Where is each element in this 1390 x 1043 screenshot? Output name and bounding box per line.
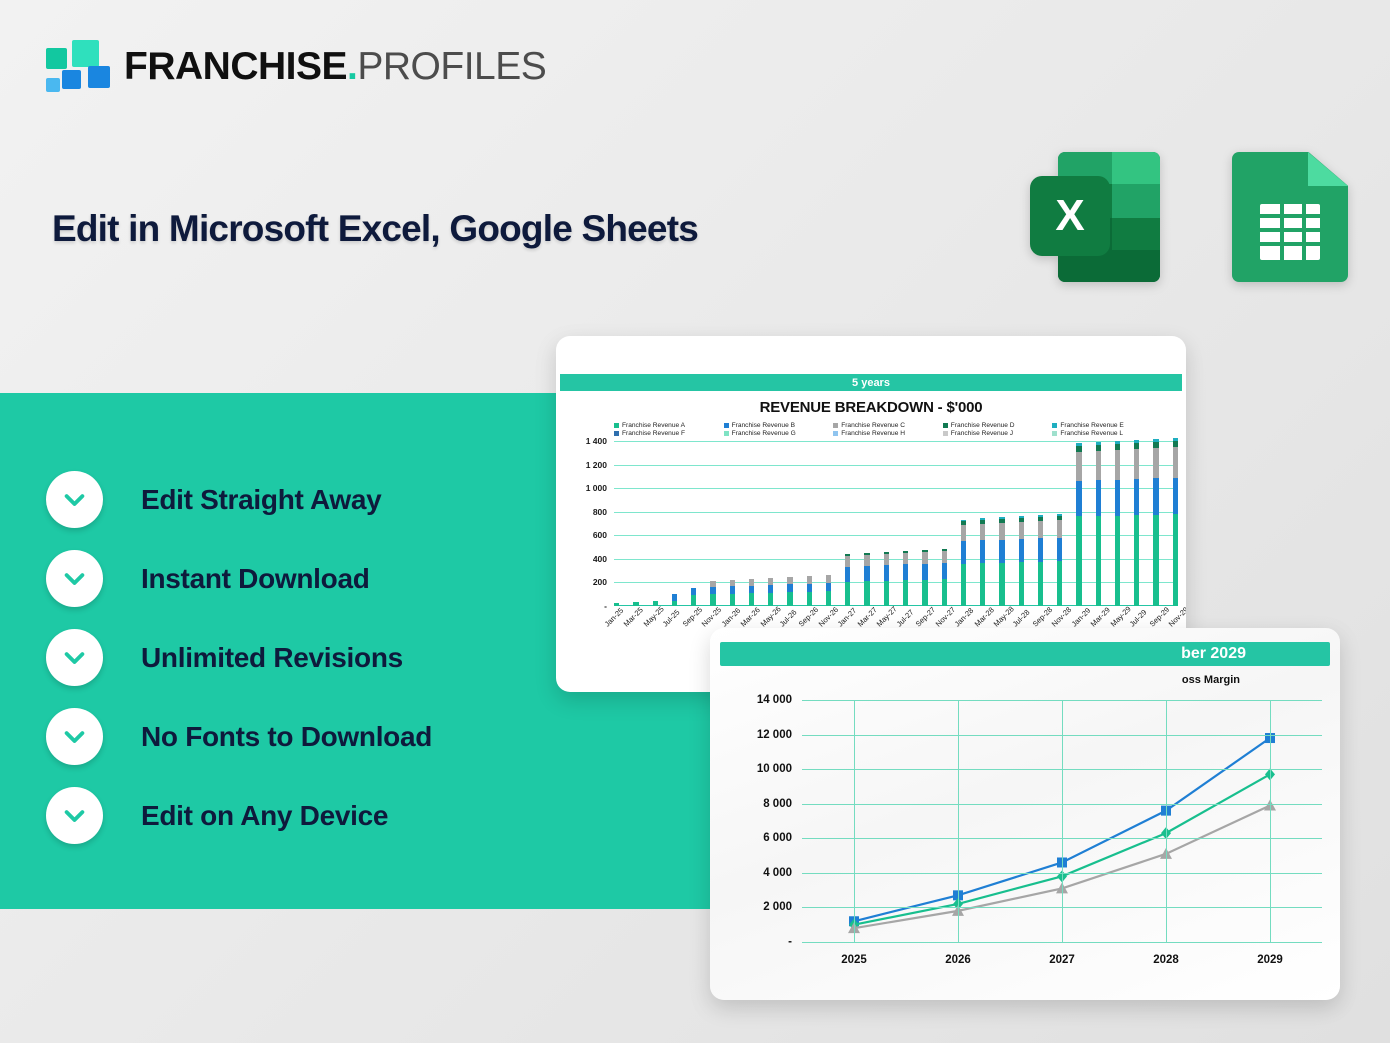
page-headline: Edit in Microsoft Excel, Google Sheets (52, 208, 698, 250)
gridline (958, 700, 959, 942)
bar-segment (672, 601, 677, 606)
bar-segment (807, 592, 812, 606)
chevron-down-icon (46, 471, 103, 528)
x-axis-tick-label: May-29 (1108, 604, 1132, 628)
legend-item: Franchise Revenue A (614, 422, 720, 429)
x-axis-tick-label: Jan-29 (1069, 606, 1092, 629)
bar-column (1076, 443, 1081, 606)
bar-segment (1038, 562, 1043, 606)
legend-label: Franchise Revenue A (622, 422, 685, 429)
legend-swatch (614, 431, 619, 436)
x-axis-tick-label: Mar-26 (739, 605, 762, 628)
legend-label: Franchise Revenue D (951, 422, 1015, 429)
card-header-badge: ber 2029 (720, 642, 1330, 666)
chevron-down-icon (46, 629, 103, 686)
y-axis-tick-label: 1 200 (586, 460, 607, 470)
x-axis-tick-label: May-25 (642, 604, 666, 628)
legend-item: Franchise Revenue J (943, 430, 1049, 437)
y-axis-tick-label: 1 400 (586, 436, 607, 446)
legend-label: Franchise Revenue J (951, 430, 1013, 437)
x-axis-tick-label: 2026 (945, 954, 971, 966)
bar-segment (922, 552, 927, 563)
logo-square-teal-left (46, 48, 67, 69)
excel-x-badge: X (1030, 176, 1110, 256)
brand-name-bold: FRANCHISE (124, 45, 347, 88)
bar-segment (922, 564, 927, 580)
bar-segment (980, 540, 985, 563)
card-header-badge: 5 years (560, 374, 1182, 391)
bar-segment (903, 580, 908, 606)
bar-chart-plot-area: -2004006008001 0001 2001 400 (614, 441, 1178, 606)
y-axis-tick-label: - (788, 936, 792, 948)
legend-swatch (1052, 431, 1057, 436)
brand-name-light: PROFILES (357, 45, 546, 88)
legend-item: Franchise Revenue H (833, 430, 939, 437)
x-axis-tick-label: Sep-29 (1147, 605, 1170, 628)
chevron-down-icon (46, 550, 103, 607)
bar-segment (807, 584, 812, 592)
bar-group (614, 441, 1178, 606)
y-axis-tick-label: - (604, 601, 607, 611)
bar-segment (999, 563, 1004, 606)
bar-segment (999, 523, 1004, 540)
bar-segment (787, 592, 792, 606)
bar-segment (864, 581, 869, 606)
bar-segment (1115, 450, 1120, 480)
sheets-table-glyph (1260, 204, 1320, 260)
squares-logo-icon (46, 40, 108, 92)
bar-segment (1134, 515, 1139, 606)
x-axis-tick-label: Mar-29 (1089, 605, 1112, 628)
legend-swatch (833, 431, 838, 436)
legend-item: Franchise Revenue B (724, 422, 830, 429)
x-axis-tick-label: 2028 (1153, 954, 1179, 966)
x-axis-tick-label: Mar-28 (972, 605, 995, 628)
chart-legend: Franchise Revenue AFranchise Revenue BFr… (556, 416, 1186, 437)
line-chart-plot-area: -2 0004 0006 0008 00010 00012 00014 0002… (802, 700, 1322, 942)
y-axis-tick-label: 200 (593, 577, 607, 587)
bar-segment (1096, 480, 1101, 516)
bar-segment (807, 576, 812, 583)
chevron-down-icon (46, 787, 103, 844)
bar-segment (845, 556, 850, 566)
bar-segment (1173, 447, 1178, 478)
x-axis-tick-label: Sep-25 (680, 605, 703, 628)
y-axis-tick-label: 6 000 (763, 832, 792, 844)
legend-swatch (833, 423, 838, 428)
bar-segment (1019, 539, 1024, 562)
bar-segment (1057, 538, 1062, 562)
bar-segment (1076, 452, 1081, 481)
bar-column (826, 575, 831, 606)
y-axis-tick-label: 800 (593, 507, 607, 517)
gridline (854, 700, 855, 942)
list-item[interactable]: No Fonts to Download (46, 697, 666, 776)
bar-segment (787, 584, 792, 592)
legend-label: Franchise Revenue H (841, 430, 905, 437)
bar-segment (1115, 516, 1120, 607)
bar-column (691, 588, 696, 606)
legend-swatch (1052, 423, 1057, 428)
x-axis-tick-label: Sep-26 (797, 605, 820, 628)
bar-segment (710, 594, 715, 606)
x-axis-tick-label: May-28 (992, 604, 1016, 628)
bar-segment (903, 553, 908, 564)
logo-square-teal-top (72, 40, 99, 67)
bar-column (710, 581, 715, 606)
feature-label: Instant Download (141, 563, 370, 595)
bar-segment (1038, 521, 1043, 538)
logo-square-blue-right (88, 66, 110, 88)
bar-column (1019, 516, 1024, 606)
bar-column (749, 579, 754, 606)
bar-segment (730, 594, 735, 606)
bar-segment (922, 580, 927, 606)
bar-segment (1115, 480, 1120, 516)
gridline (1166, 700, 1167, 942)
y-axis-tick-label: 600 (593, 530, 607, 540)
logo-square-lightblue-bottom (46, 78, 60, 92)
bar-segment (864, 555, 869, 566)
app-icon-group: X (1030, 152, 1348, 282)
x-axis-tick-label: Jan-27 (836, 606, 859, 629)
gridline (1270, 700, 1271, 942)
bar-column (730, 580, 735, 606)
brand-name-dot: . (347, 45, 357, 88)
bar-column (672, 594, 677, 606)
chevron-down-icon (46, 708, 103, 765)
y-axis-tick-label: 14 000 (757, 694, 792, 706)
chart-title: REVENUE BREAKDOWN - $'000 (556, 399, 1186, 416)
bar-column (787, 577, 792, 606)
bar-segment (1076, 516, 1081, 606)
legend-item: Franchise Revenue F (614, 430, 720, 437)
legend-label: Franchise Revenue E (1060, 422, 1123, 429)
bar-segment (1173, 478, 1178, 515)
legend-swatch (943, 431, 948, 436)
legend-swatch (724, 431, 729, 436)
bar-column (864, 553, 869, 606)
x-axis-tick-label: Jan-26 (719, 606, 742, 629)
legend-swatch (614, 423, 619, 428)
google-sheets-icon (1232, 152, 1348, 282)
bar-segment (942, 579, 947, 606)
bar-column (980, 518, 985, 606)
bar-segment (672, 594, 677, 601)
bar-segment (961, 564, 966, 606)
x-axis-tick-label: Nov-25 (700, 605, 723, 628)
bar-column (845, 554, 850, 606)
x-axis-tick-label: Sep-28 (1031, 605, 1054, 628)
legend-label: Franchise Revenue B (732, 422, 795, 429)
gridline (1062, 700, 1063, 942)
gridline (802, 942, 1322, 943)
bar-segment (884, 554, 889, 565)
bar-segment (980, 563, 985, 606)
feature-label: Edit Straight Away (141, 484, 381, 516)
bar-column (768, 578, 773, 606)
bar-segment (749, 586, 754, 594)
bar-column (1057, 514, 1062, 606)
bar-segment (864, 566, 869, 582)
bar-segment (691, 588, 696, 595)
list-item[interactable]: Edit on Any Device (46, 776, 666, 855)
bar-segment (999, 540, 1004, 563)
y-axis-tick-label: 4 000 (763, 867, 792, 879)
bar-segment (942, 563, 947, 580)
x-axis-tick-label: Sep-27 (914, 605, 937, 628)
bar-column (999, 517, 1004, 606)
bar-segment (826, 591, 831, 606)
bar-segment (768, 585, 773, 593)
bar-segment (1153, 448, 1158, 478)
bar-column (1173, 438, 1178, 607)
bar-column (961, 520, 966, 606)
bar-segment (1134, 479, 1139, 515)
feature-label: Edit on Any Device (141, 800, 388, 832)
bar-column (903, 551, 908, 606)
feature-label: No Fonts to Download (141, 721, 432, 753)
bar-column (884, 552, 889, 606)
bar-segment (845, 582, 850, 606)
bar-segment (691, 595, 696, 606)
x-axis-tick-label: Nov-29 (1167, 605, 1186, 628)
bar-column (1115, 441, 1120, 606)
y-axis-tick-label: 8 000 (763, 798, 792, 810)
bar-column (1153, 439, 1158, 606)
bar-segment (1153, 478, 1158, 514)
bar-segment (1019, 522, 1024, 539)
brand-logo: FRANCHISE.PROFILES (46, 40, 546, 92)
bar-segment (1057, 520, 1062, 538)
y-axis-tick-label: 12 000 (757, 729, 792, 741)
bar-segment (1096, 516, 1101, 606)
bar-segment (1038, 538, 1043, 561)
chart-legend: oss Margin (710, 674, 1340, 686)
legend-label: Franchise Revenue L (1060, 430, 1123, 437)
bar-column (942, 549, 947, 606)
bar-segment (787, 577, 792, 584)
bar-segment (768, 578, 773, 585)
x-axis-tick-label: Nov-26 (817, 605, 840, 628)
logo-square-blue-mid (62, 70, 81, 89)
legend-item: Franchise Revenue C (833, 422, 939, 429)
bar-segment (826, 583, 831, 591)
bar-segment (845, 567, 850, 582)
bar-column (1038, 515, 1043, 606)
x-axis-tick-label: 2025 (841, 954, 867, 966)
feature-label: Unlimited Revisions (141, 642, 403, 674)
bar-segment (768, 593, 773, 606)
y-axis-tick-label: 400 (593, 554, 607, 564)
bar-segment (884, 565, 889, 581)
x-axis-tick-label: 2029 (1257, 954, 1283, 966)
bar-column (922, 550, 927, 606)
bar-segment (749, 579, 754, 586)
y-axis-tick-label: 2 000 (763, 901, 792, 913)
legend-label: Franchise Revenue F (622, 430, 685, 437)
legend-item: Franchise Revenue E (1052, 422, 1158, 429)
bar-column (807, 576, 812, 606)
x-axis-tick-label: Nov-27 (933, 605, 956, 628)
bar-segment (1019, 562, 1024, 606)
bar-segment (1076, 481, 1081, 516)
bar-segment (1134, 449, 1139, 479)
brand-wordmark: FRANCHISE.PROFILES (124, 47, 546, 86)
x-axis-tick-label: May-26 (758, 604, 782, 628)
bar-segment (884, 581, 889, 606)
bar-column (1096, 442, 1101, 606)
x-axis-tick-label: Mar-27 (855, 605, 878, 628)
y-axis-tick-label: 10 000 (757, 763, 792, 775)
profit-margin-card: ber 2029 oss Margin -2 0004 0006 0008 00… (710, 628, 1340, 1000)
bar-segment (980, 524, 985, 541)
excel-icon: X (1030, 152, 1160, 282)
bar-segment (1153, 515, 1158, 606)
legend-label: Franchise Revenue C (841, 422, 905, 429)
bar-segment (961, 525, 966, 542)
bar-segment (942, 551, 947, 563)
x-axis-tick-label: 2027 (1049, 954, 1075, 966)
bar-segment (749, 593, 754, 606)
legend-swatch (724, 423, 729, 428)
x-axis-tick-label: Jan-28 (953, 606, 976, 629)
bar-segment (710, 587, 715, 594)
x-axis-tick-label: Nov-28 (1050, 605, 1073, 628)
bar-segment (903, 564, 908, 580)
bar-column (1134, 440, 1139, 606)
x-axis-tick-label: May-27 (875, 604, 899, 628)
bar-segment (826, 575, 831, 583)
bar-segment (730, 586, 735, 593)
legend-swatch (943, 423, 948, 428)
bar-segment (1057, 561, 1062, 606)
bar-segment (961, 541, 966, 563)
legend-label: Franchise Revenue G (732, 430, 796, 437)
y-axis-tick-label: 1 000 (586, 483, 607, 493)
bar-segment (1096, 451, 1101, 481)
legend-item: Franchise Revenue G (724, 430, 830, 437)
bar-segment (1173, 514, 1178, 606)
legend-item: Franchise Revenue D (943, 422, 1049, 429)
x-axis-tick-label: Mar-25 (622, 605, 645, 628)
legend-item: Franchise Revenue L (1052, 430, 1158, 437)
